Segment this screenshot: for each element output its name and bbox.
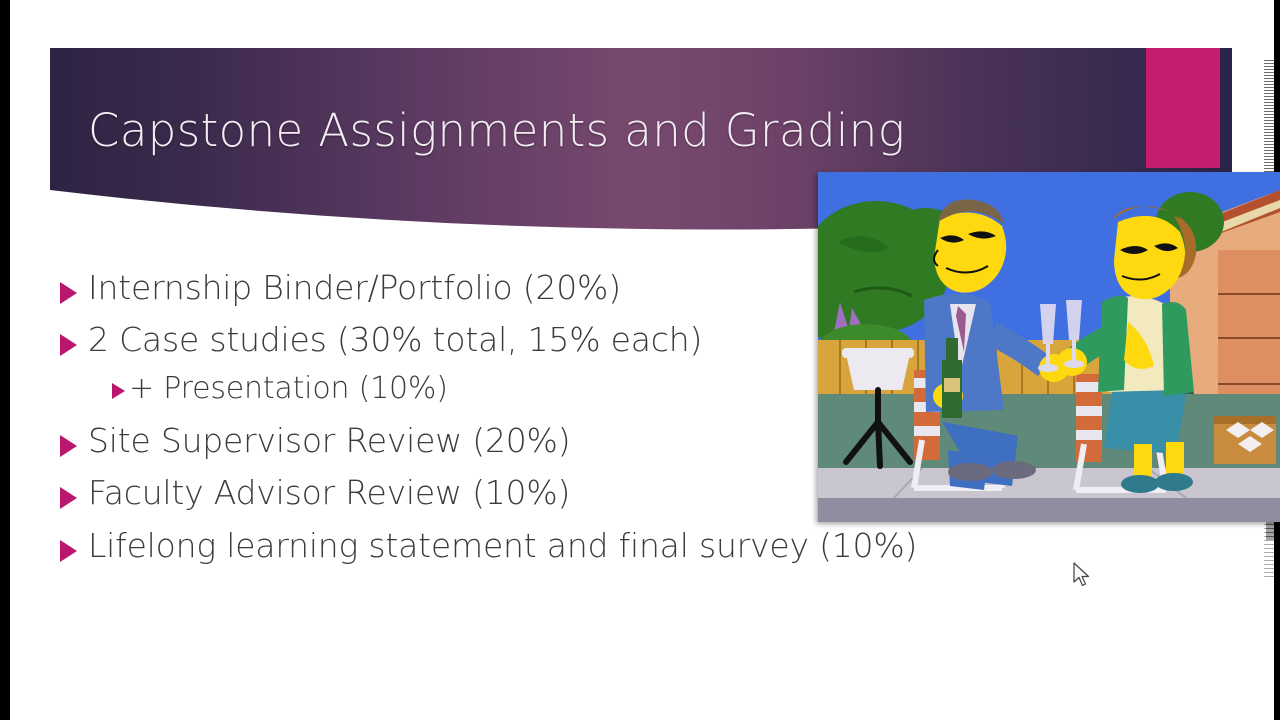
slide-title: Capstone Assignments and Grading <box>88 104 988 157</box>
bullet-text: Lifelong learning statement and final su… <box>88 526 917 566</box>
slide-image <box>818 172 1280 522</box>
triangle-right-icon <box>112 383 125 399</box>
triangle-right-icon <box>60 540 77 562</box>
triangle-right-icon <box>60 435 77 457</box>
bullet-text: + Presentation (10%) <box>129 371 448 408</box>
triangle-right-icon <box>60 334 77 356</box>
accent-bar <box>1146 48 1220 168</box>
bullet-text: Faculty Advisor Review (10%) <box>88 473 570 513</box>
triangle-right-icon <box>60 487 77 509</box>
panel-edge-ticks-lower <box>1264 520 1274 580</box>
bullet-text: Internship Binder/Portfolio (20%) <box>88 268 621 308</box>
cartoon-illustration <box>818 172 1280 522</box>
bullet-text: Site Supervisor Review (20%) <box>88 421 570 461</box>
presentation-slide: Capstone Assignments and Grading Interns… <box>0 0 1280 720</box>
bullet-text: 2 Case studies (30% total, 15% each) <box>88 320 702 360</box>
triangle-right-icon <box>60 282 77 304</box>
letterbox-bar-left <box>0 0 10 720</box>
mouse-pointer-icon <box>1072 562 1092 588</box>
bullet-item: Lifelong learning statement and final su… <box>60 526 1020 566</box>
